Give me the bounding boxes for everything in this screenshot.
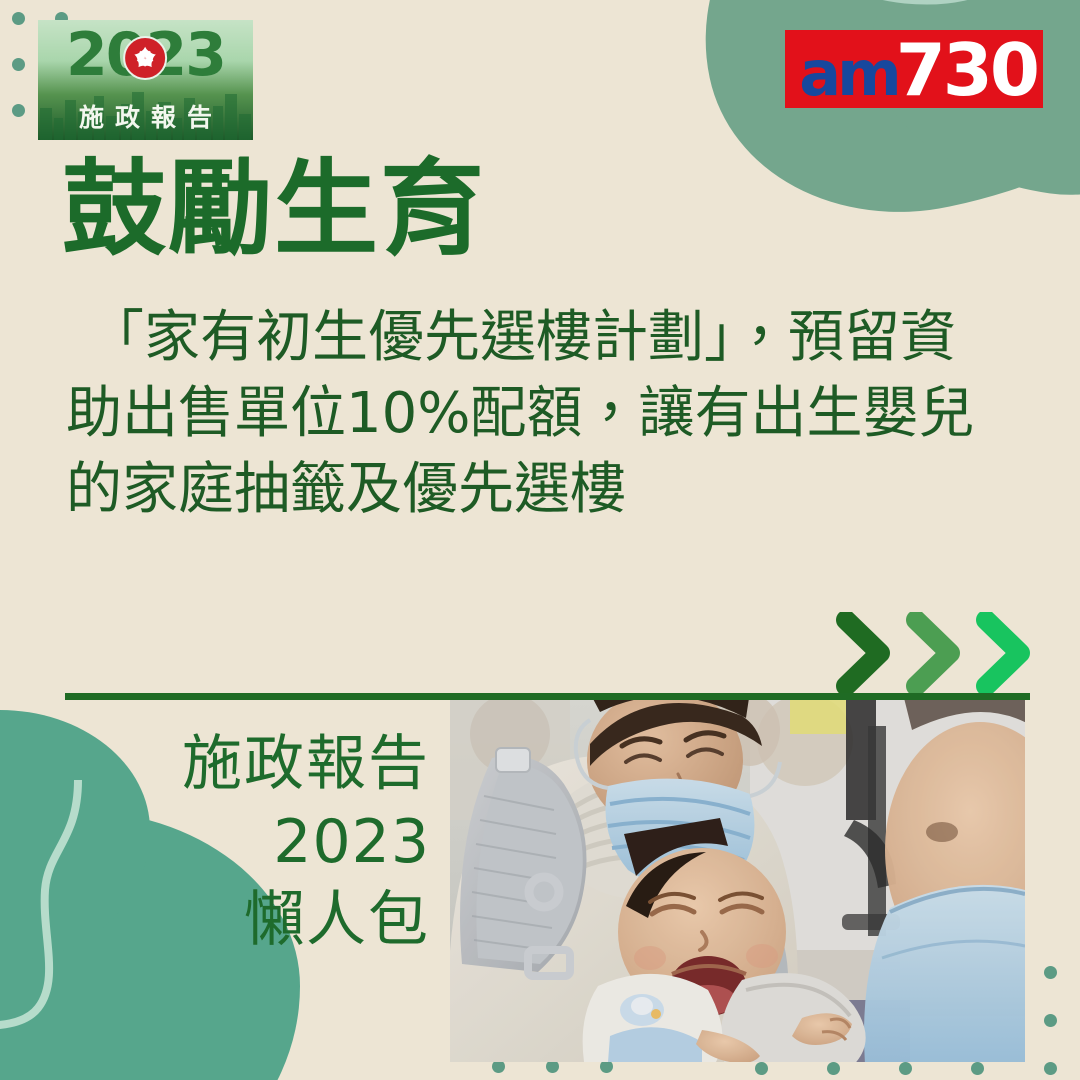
decorative-dot <box>1044 1014 1057 1027</box>
footer-series-label: 施政報告 2023 懶人包 <box>120 725 430 959</box>
decorative-dot <box>12 12 25 25</box>
body-paragraph: 「家有初生優先選樓計劃」，預留資 助出售單位10%配額，讓有出生嬰兒 的家庭抽籤… <box>66 300 1026 528</box>
footer-line-1: 施政報告 <box>120 725 430 803</box>
decorative-dot <box>1044 966 1057 979</box>
policy-address-2023-badge: 2023 施政報告 <box>38 20 253 140</box>
body-line-1: 「家有初生優先選樓計劃」，預留資 <box>66 300 1026 376</box>
chevron-right-icon-mid <box>902 612 964 694</box>
body-line-2: 助出售單位10%配額，讓有出生嬰兒 <box>66 376 1026 452</box>
decorative-dot <box>827 1062 840 1075</box>
hong-kong-bauhinia-emblem-icon <box>123 36 167 80</box>
am730-logo: am 730 <box>785 30 1043 108</box>
decorative-dot <box>971 1062 984 1075</box>
chevron-right-icon-bright <box>972 612 1034 694</box>
am730-prefix: am <box>799 43 897 105</box>
photo-mother-and-baby <box>450 700 1025 1062</box>
badge-report-label: 施政報告 <box>38 98 253 134</box>
page-title: 鼓勵生育 <box>62 155 486 263</box>
poster-canvas: 2023 施政報告 am 730 鼓勵生育 「家有初生優先選樓計劃」，預留資 助… <box>0 0 1080 1080</box>
footer-line-2: 2023 <box>120 803 430 881</box>
decorative-dot <box>12 58 25 71</box>
horizontal-divider <box>65 693 1030 700</box>
decorative-dot <box>899 1062 912 1075</box>
footer-line-3: 懶人包 <box>120 881 430 959</box>
am730-number: 730 <box>896 34 1037 106</box>
triple-chevron-right-icon <box>832 612 1034 694</box>
decorative-dot <box>1044 1062 1057 1075</box>
body-line-3: 的家庭抽籤及優先選樓 <box>66 452 1026 528</box>
chevron-right-icon-dark <box>832 612 894 694</box>
decorative-dot <box>12 104 25 117</box>
decorative-dot <box>755 1062 768 1075</box>
